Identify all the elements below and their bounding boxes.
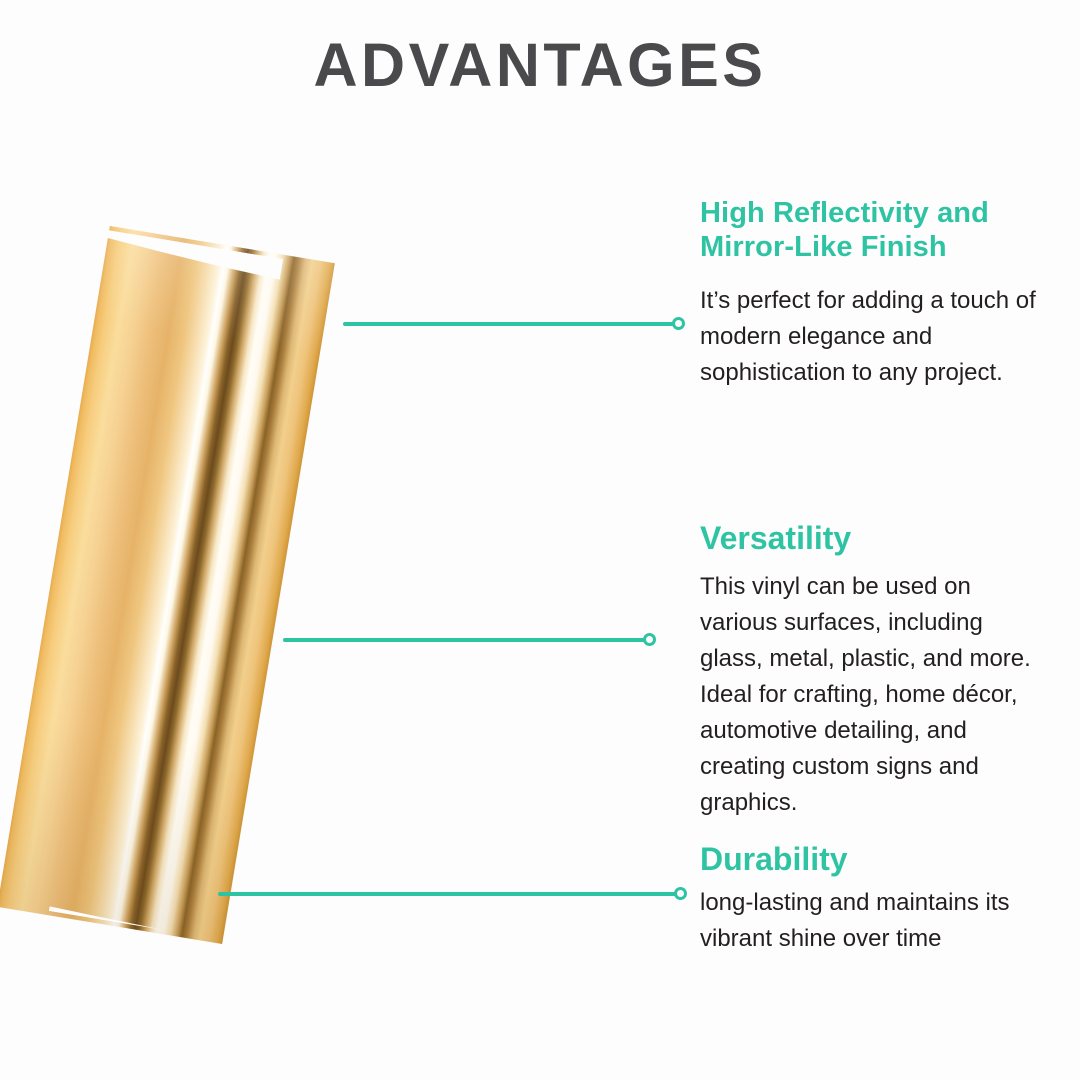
connector-line-3	[218, 892, 678, 896]
advantage-body-2: This vinyl can be used on various surfac…	[700, 569, 1045, 821]
connector-dot-3	[674, 887, 687, 900]
advantage-block-durability: Durability long-lasting and maintains it…	[700, 841, 1045, 957]
advantage-block-high-reflectivity: High Reflectivity and Mirror-Like Finish…	[700, 196, 1068, 391]
gold-roll-body	[0, 226, 335, 944]
advantage-block-versatility: Versatility This vinyl can be used on va…	[700, 520, 1045, 821]
connector-dot-2	[643, 633, 656, 646]
advantage-heading-2: Versatility	[700, 520, 1045, 558]
advantage-body-1: It’s perfect for adding a touch of moder…	[700, 283, 1068, 391]
advantage-heading-1: High Reflectivity and Mirror-Like Finish	[700, 196, 1068, 264]
page-title: ADVANTAGES	[0, 33, 1080, 99]
advantage-heading-3: Durability	[700, 841, 1045, 879]
gold-roll-top-edge	[49, 222, 283, 316]
gold-vinyl-roll-illustration	[0, 195, 420, 995]
infographic-canvas: ADVANTAGES High Reflectivity and Mirror-…	[0, 0, 1080, 1080]
connector-dot-1	[672, 317, 685, 330]
advantage-body-3: long-lasting and maintains its vibrant s…	[700, 885, 1045, 957]
gold-roll-bottom-edge	[49, 854, 283, 948]
connector-line-2	[283, 638, 647, 642]
connector-line-1	[343, 322, 676, 326]
gold-roll-sheen	[0, 226, 335, 944]
